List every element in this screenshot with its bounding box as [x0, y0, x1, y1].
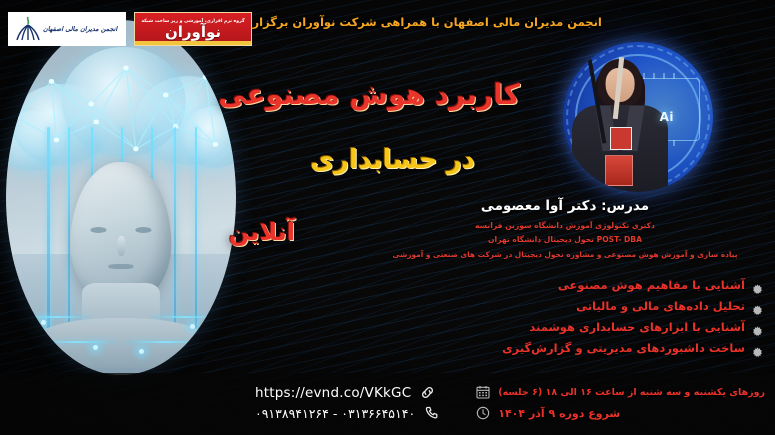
phone-icon — [423, 405, 440, 422]
ai-brain-cloud-illustration — [6, 20, 236, 375]
registration-url[interactable]: https://evnd.co/VKkGC — [255, 385, 411, 401]
logo-novavaran: گروه نرم افزاری، آموزشی و زیر ساخت شبکه … — [134, 12, 252, 46]
registration-link-row[interactable]: https://evnd.co/VKkGC — [255, 384, 440, 401]
ai-badge-label: Ai — [660, 110, 674, 124]
gear-icon — [752, 343, 763, 354]
gear-icon — [752, 322, 763, 333]
instructor-name: مدرس: دکتر آوا معصومی — [365, 198, 765, 214]
association-emblem-icon — [13, 16, 43, 42]
phone-row: ۰۹۱۳۸۹۴۱۲۶۴ - ۰۳۱۳۶۶۴۵۱۴۰ — [255, 405, 440, 422]
gear-icon — [752, 280, 763, 291]
instructor-block: مدرس: دکتر آوا معصومی دکتری تکنولوژی آمو… — [365, 198, 765, 262]
list-item: آشنایی با ابزارهای حسابداری هوشمند — [363, 320, 763, 334]
schedule-days: روزهای یکشنبه و سه شنبه از ساعت ۱۶ الی ۱… — [498, 387, 765, 398]
logo-group: گروه نرم افزاری، آموزشی و زیر ساخت شبکه … — [8, 12, 252, 46]
headline-line-1: کاربرد هوش مصنوعی — [218, 78, 520, 111]
logo-association: انجمن مدیران مالی اصفهان — [8, 12, 126, 46]
logo-novavaran-name: نوآوران — [165, 25, 221, 40]
logo-association-name: انجمن مدیران مالی اصفهان — [43, 25, 117, 33]
calendar-icon — [475, 384, 491, 400]
presenter-portrait: Ai — [563, 42, 713, 192]
schedule-days-row: روزهای یکشنبه و سه شنبه از ساعت ۱۶ الی ۱… — [475, 384, 765, 400]
list-item: ساخت داشبوردهای مدیریتی و گزارش‌گیری — [363, 341, 763, 355]
list-item-label: آشنایی با ابزارهای حسابداری هوشمند — [529, 320, 745, 334]
instructor-credential-3: پیاده سازی و آموزش هوش مصنوعی و مشاوره ت… — [365, 248, 765, 262]
instructor-credential-1: دکتری تکنولوژی آموزش دانشگاه سوربن فرانس… — [365, 219, 765, 233]
link-icon — [419, 384, 436, 401]
presenter-figure — [572, 51, 668, 192]
phone-numbers: ۰۹۱۳۸۹۴۱۲۶۴ - ۰۳۱۳۶۶۴۵۱۴۰ — [255, 406, 415, 421]
gear-icon — [752, 301, 763, 312]
clock-icon — [475, 405, 491, 421]
headline-line-2: در حسابداری — [310, 145, 475, 175]
poster-root: انجمن مدیران مالی اصفهان با همراهی شرکت … — [0, 0, 775, 435]
schedule-block: روزهای یکشنبه و سه شنبه از ساعت ۱۶ الی ۱… — [475, 384, 765, 426]
topics-list: آشنایی با مفاهیم هوش مصنوعی تحلیل داده‌ه… — [363, 278, 763, 362]
list-item-label: ساخت داشبوردهای مدیریتی و گزارش‌گیری — [502, 341, 745, 355]
headline-line-3: آنلاین — [229, 218, 295, 246]
contact-block: https://evnd.co/VKkGC ۰۹۱۳۸۹۴۱۲۶۴ - ۰۳۱۳… — [255, 384, 440, 426]
list-item-label: آشنایی با مفاهیم هوش مصنوعی — [558, 278, 745, 292]
list-item: آشنایی با مفاهیم هوش مصنوعی — [363, 278, 763, 292]
schedule-start-date: شروع دوره ۹ آذر ۱۴۰۴ — [498, 407, 620, 420]
list-item-label: تحلیل داده‌های مالی و مالیاتی — [576, 299, 745, 313]
schedule-start-row: شروع دوره ۹ آذر ۱۴۰۴ — [475, 405, 765, 421]
instructor-credential-2: POST- DBA تحول دیجیتال دانشگاه تهران — [365, 233, 765, 247]
list-item: تحلیل داده‌های مالی و مالیاتی — [363, 299, 763, 313]
